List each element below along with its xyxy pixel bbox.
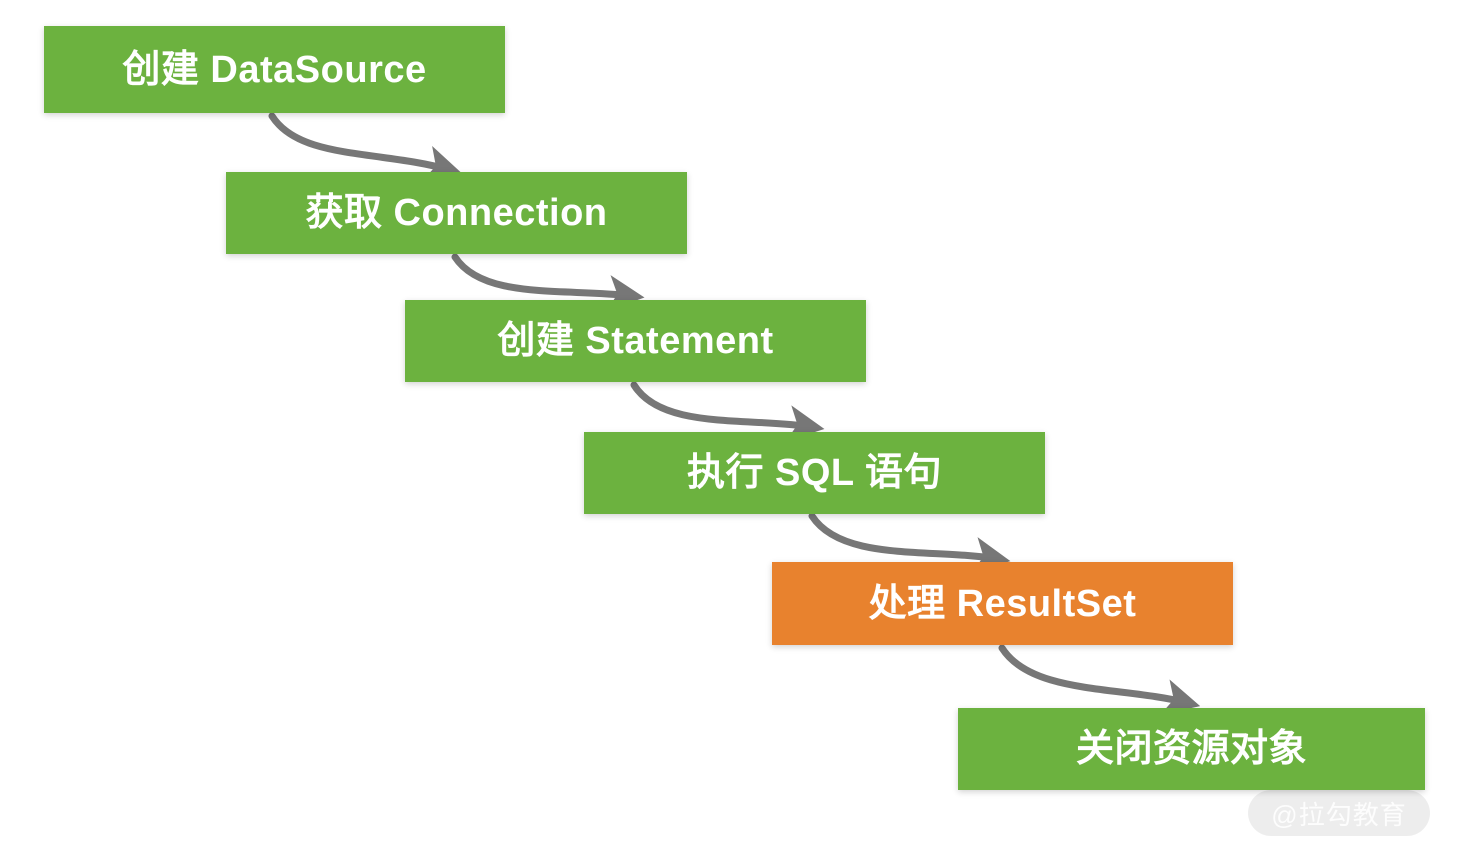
step-label: 创建 DataSource [122,51,426,89]
arrow-1 [272,116,450,170]
step-create-datasource[interactable]: 创建 DataSource [44,26,505,113]
step-execute-sql[interactable]: 执行 SQL 语句 [584,432,1045,514]
watermark-badge: @拉勾教育 [1248,790,1430,836]
arrow-4 [812,516,998,559]
step-label: 处理 ResultSet [869,585,1137,623]
step-handle-resultset[interactable]: 处理 ResultSet [772,562,1233,645]
arrow-3 [634,385,812,427]
step-close-resources[interactable]: 关闭资源对象 [958,708,1425,790]
arrow-5 [1002,648,1188,703]
arrow-2 [455,257,632,296]
step-label: 获取 Connection [305,194,607,232]
step-create-statement[interactable]: 创建 Statement [405,300,866,382]
step-label: 创建 Statement [497,322,773,360]
step-label: 执行 SQL 语句 [687,454,942,492]
watermark-text: @拉勾教育 [1271,795,1406,832]
step-label: 关闭资源对象 [1076,730,1307,768]
diagram-canvas: 创建 DataSource 获取 Connection 创建 Statement… [0,0,1463,857]
step-get-connection[interactable]: 获取 Connection [226,172,687,254]
